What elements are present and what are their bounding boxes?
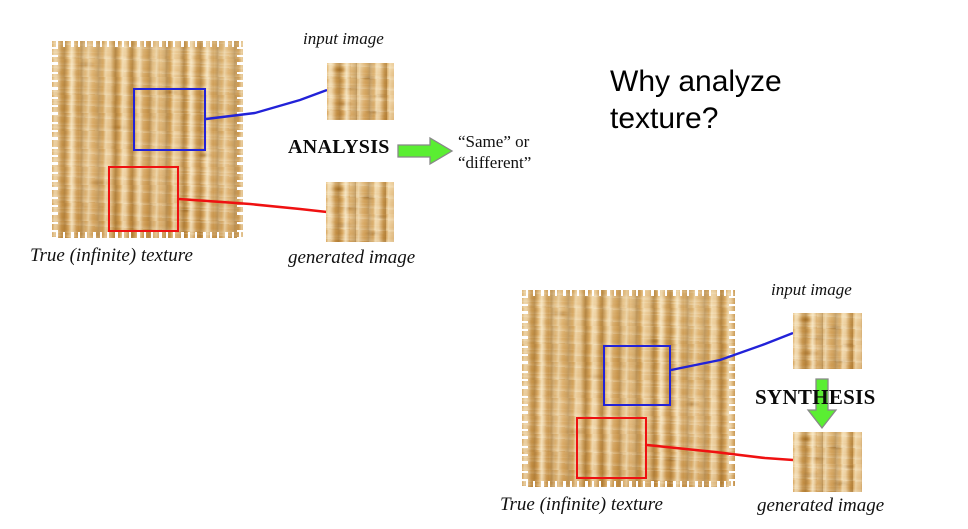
analysis-operation-label: ANALYSIS [288, 136, 390, 159]
slide-canvas: input image generated image ANALYSIS “Sa… [0, 0, 968, 529]
synthesis-operation-label: SYNTHESIS [755, 385, 876, 410]
generated-image-label-synthesis: generated image [757, 495, 884, 517]
green-right-arrow-icon [397, 136, 454, 166]
input-image-label-synthesis: input image [771, 280, 852, 300]
input-image-patch-synthesis [793, 313, 862, 369]
true-texture-label-synthesis: True (infinite) texture [500, 494, 663, 516]
generated-image-patch-synthesis [793, 432, 862, 492]
